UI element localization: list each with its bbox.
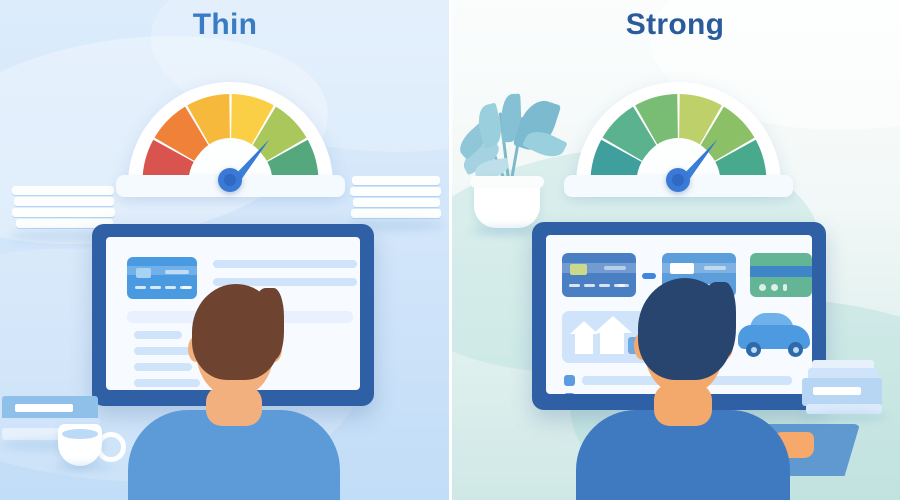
hair-side: [708, 282, 736, 358]
credit-card-primary: [127, 257, 197, 299]
panel-divider: [449, 0, 452, 500]
credit-score-gauge-strong: [576, 82, 781, 187]
credit-card-1: [562, 253, 636, 297]
panel-strong: Strong: [450, 0, 900, 500]
panel-title-thin: Thin: [0, 8, 450, 42]
gauge-needle-hub: [666, 168, 690, 192]
gauge-needle-hub: [218, 168, 242, 192]
panel-title-strong: Strong: [450, 8, 900, 42]
credit-card-3: [750, 253, 812, 297]
plant-pot: [474, 176, 540, 228]
card-connector: [642, 273, 656, 279]
panel-thin: Thin: [0, 0, 450, 500]
credit-score-gauge-thin: [128, 82, 333, 187]
comparison-illustration: Thin: [0, 0, 900, 500]
hair-side: [258, 288, 284, 360]
